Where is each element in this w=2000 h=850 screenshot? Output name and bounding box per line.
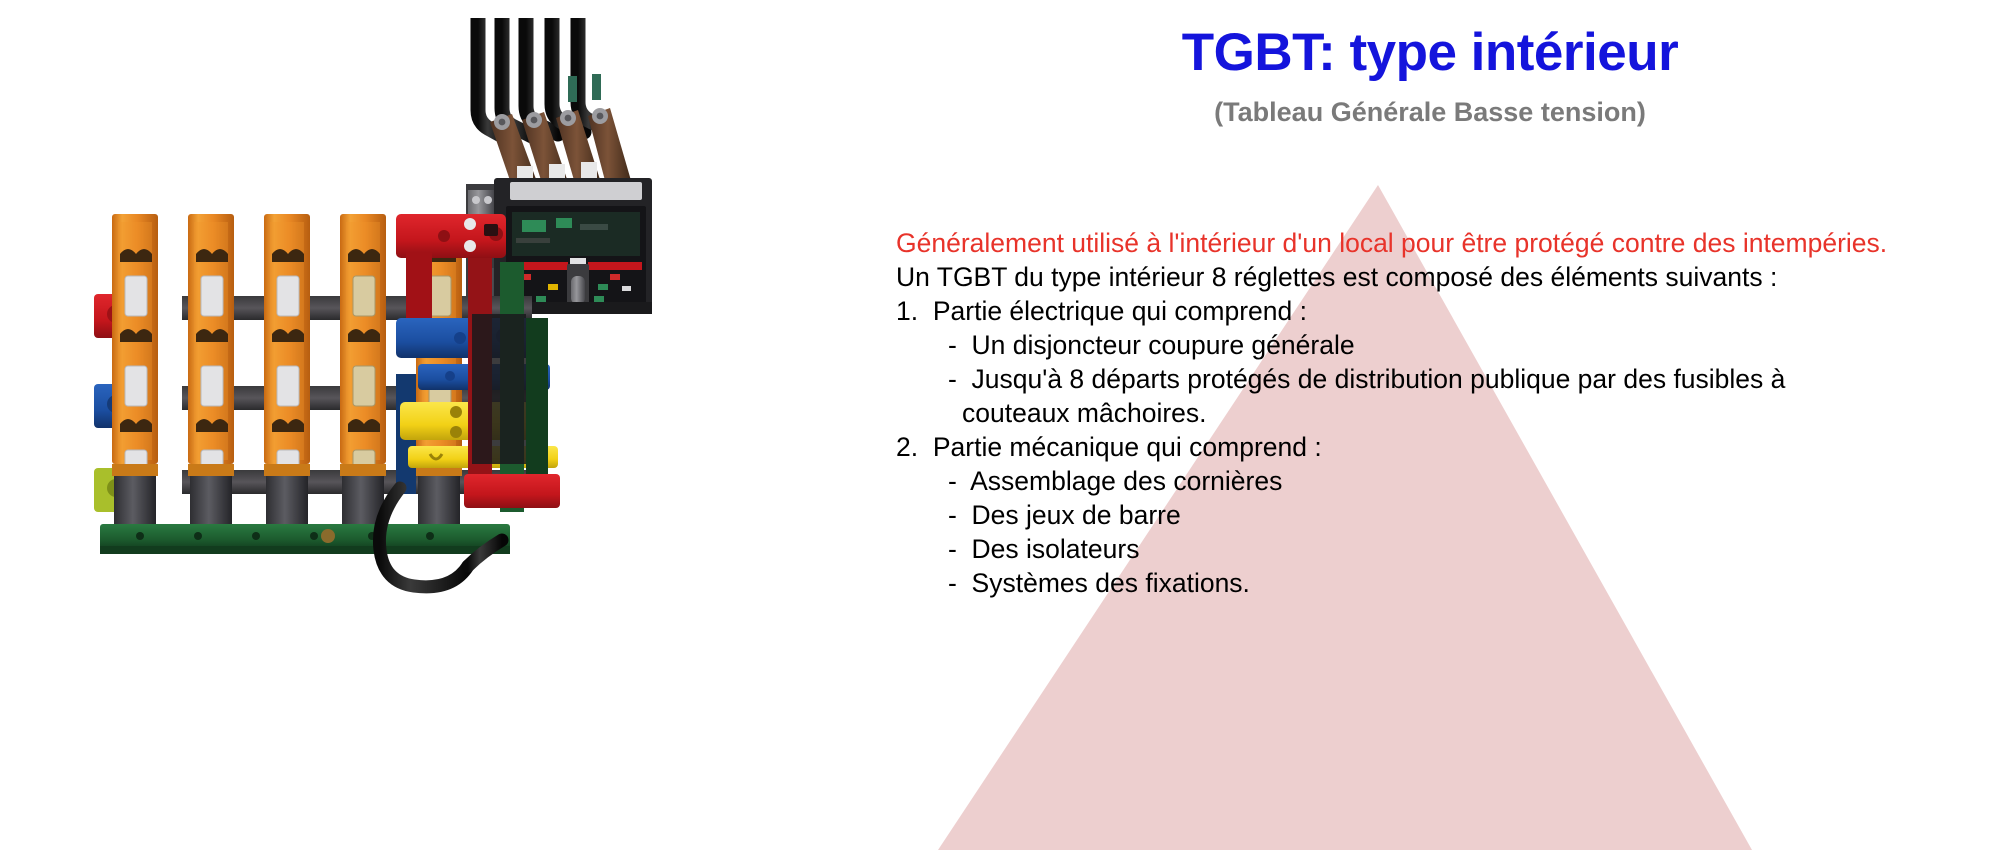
section-1-item-0: - Un disjoncteur coupure générale bbox=[896, 328, 1908, 362]
intro-warning-text: Généralement utilisé à l'intérieur d'un … bbox=[896, 226, 1908, 260]
section-2-item-0: - Assemblage des cornières bbox=[896, 464, 1908, 498]
page-subtitle: (Tableau Générale Basse tension) bbox=[900, 97, 1960, 128]
section-2-item-2: - Des isolateurs bbox=[896, 532, 1908, 566]
section-2-number: 2. bbox=[896, 432, 918, 462]
section-2-item-3: - Systèmes des fixations. bbox=[896, 566, 1908, 600]
section-1-heading: 1. Partie électrique qui comprend : bbox=[896, 294, 1908, 328]
section-1-heading-text: Partie électrique qui comprend : bbox=[933, 296, 1307, 326]
section-2-heading: 2. Partie mécanique qui comprend : bbox=[896, 430, 1908, 464]
bottom-green-rail bbox=[100, 524, 510, 554]
section-2-item-1: - Des jeux de barre bbox=[896, 498, 1908, 532]
body-text-block: Généralement utilisé à l'intérieur d'un … bbox=[896, 226, 1908, 600]
section-2-heading-text: Partie mécanique qui comprend : bbox=[933, 432, 1322, 462]
section-1-number: 1. bbox=[896, 296, 918, 326]
title-block: TGBT: type intérieur (Tableau Générale B… bbox=[900, 24, 1960, 128]
tgbt-interior-panel-photo bbox=[70, 18, 710, 598]
lead-line-text: Un TGBT du type intérieur 8 réglettes es… bbox=[896, 260, 1908, 294]
slide-root: TGBT: type intérieur (Tableau Générale B… bbox=[0, 0, 2000, 850]
page-title: TGBT: type intérieur bbox=[900, 24, 1960, 81]
section-1-item-1: - Jusqu'à 8 départs protégés de distribu… bbox=[896, 362, 1908, 396]
section-1-item-1-cont: couteaux mâchoires. bbox=[896, 396, 1908, 430]
